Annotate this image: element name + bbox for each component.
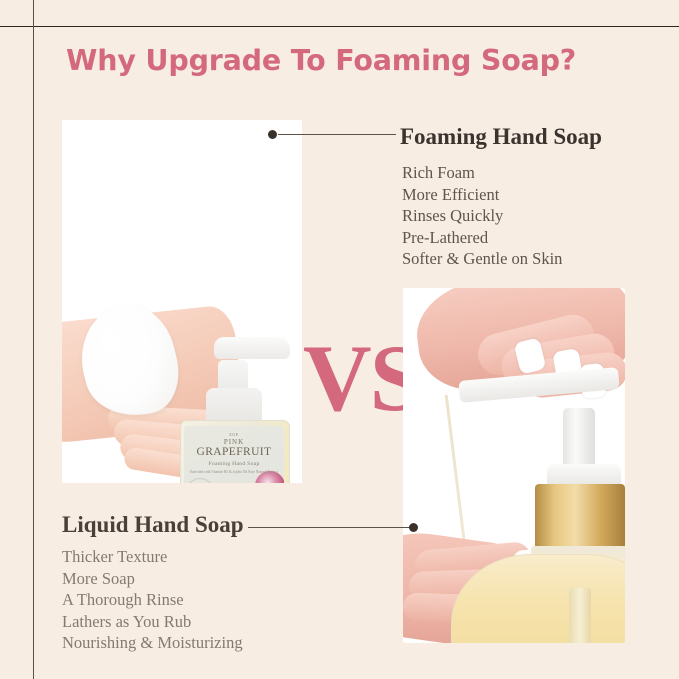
list-item: Softer & Gentle on Skin (402, 248, 562, 270)
label-scent-line2: GRAPEFRUIT (184, 446, 284, 458)
list-item: Rich Foam (402, 162, 562, 184)
infographic-canvas: Why Upgrade To Foaming Soap? ZOE PINK GR… (0, 0, 679, 679)
foaming-soap-photo: ZOE PINK GRAPEFRUIT Foaming Hand Soap En… (62, 120, 302, 483)
connector-line-foaming (278, 134, 396, 135)
product-label: ZOE PINK GRAPEFRUIT Foaming Hand Soap En… (184, 426, 284, 483)
liquid-soap-photo (403, 288, 625, 643)
liquid-heading: Liquid Hand Soap (62, 512, 244, 538)
label-scent-line1: PINK (184, 438, 284, 446)
connector-line-liquid (248, 527, 415, 528)
label-product-type: Foaming Hand Soap (184, 461, 284, 467)
liquid-benefit-list: Thicker Texture More Soap A Thorough Rin… (62, 546, 243, 654)
page-title: Why Upgrade To Foaming Soap? (66, 44, 656, 77)
frame-vertical-rule (33, 0, 34, 679)
list-item: More Soap (62, 568, 243, 590)
frame-horizontal-rule (0, 26, 679, 27)
label-fine-print: Enriched with Vitamin B5 & Jojoba Oil Pu… (184, 470, 284, 475)
list-item: Thicker Texture (62, 546, 243, 568)
list-item: Lathers as You Rub (62, 611, 243, 633)
label-brand: ZOE (184, 432, 284, 437)
connector-dot-liquid (409, 523, 418, 532)
foaming-benefit-list: Rich Foam More Efficient Rinses Quickly … (402, 162, 562, 270)
dip-tube-shape (569, 588, 591, 643)
list-item: Pre-Lathered (402, 227, 562, 249)
list-item: Nourishing & Moisturizing (62, 632, 243, 654)
foaming-heading: Foaming Hand Soap (400, 124, 602, 150)
pump-head-shape (214, 337, 290, 359)
list-item: A Thorough Rinse (62, 589, 243, 611)
connector-dot-foaming (268, 130, 277, 139)
list-item: Rinses Quickly (402, 205, 562, 227)
list-item: More Efficient (402, 184, 562, 206)
citrus-outline-decor (186, 478, 214, 483)
